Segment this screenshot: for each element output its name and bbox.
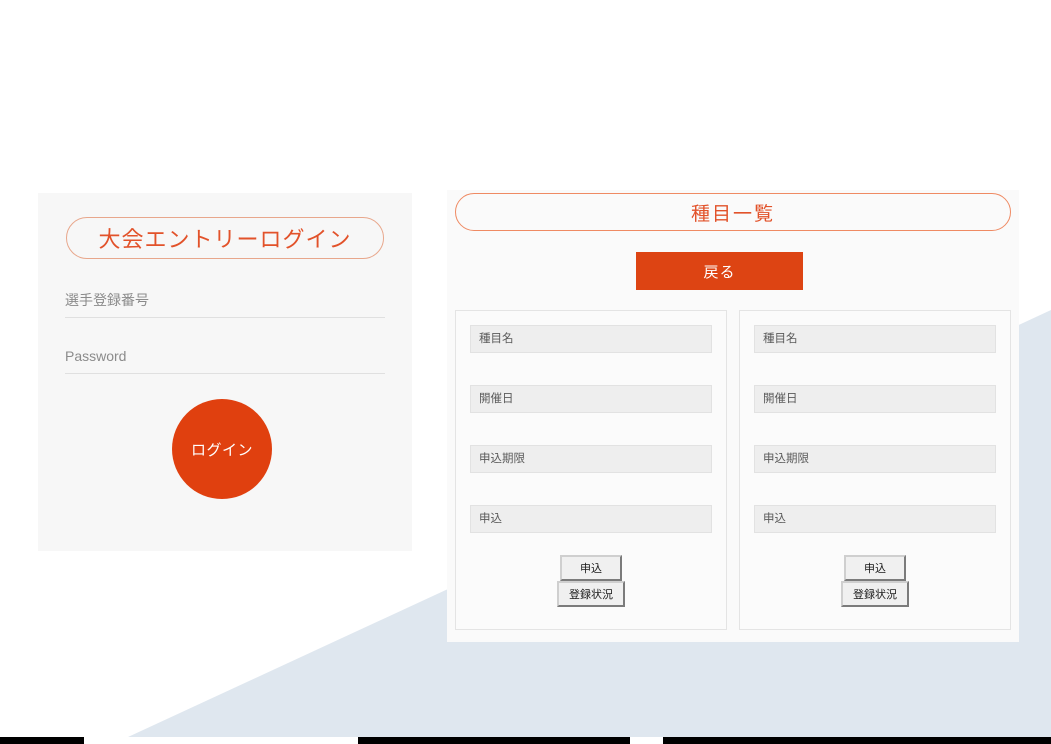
bottom-rule-segment-3 [663, 737, 1051, 744]
event-list-panel: 種目一覧 戻る 申込 登録状況 申込 登録状況 [447, 190, 1019, 642]
registration-status-button[interactable]: 登録状況 [841, 581, 909, 607]
apply-button[interactable]: 申込 [560, 555, 622, 581]
event-name-field[interactable] [470, 325, 712, 353]
password-input[interactable] [65, 339, 385, 374]
application-field[interactable] [470, 505, 712, 533]
login-submit-button[interactable]: ログイン [172, 399, 272, 499]
event-list-title: 種目一覧 [455, 193, 1011, 231]
player-registration-number-input[interactable] [65, 283, 385, 318]
login-title: 大会エントリーログイン [66, 217, 384, 259]
application-field[interactable] [754, 505, 996, 533]
event-card-actions: 申込 登録状況 [456, 555, 726, 607]
back-button[interactable]: 戻る [636, 252, 803, 290]
event-card-actions: 申込 登録状況 [740, 555, 1010, 607]
bottom-rule-segment-2 [358, 737, 630, 744]
event-name-field[interactable] [754, 325, 996, 353]
event-card-list: 申込 登録状況 申込 登録状況 [455, 310, 1011, 630]
application-deadline-field[interactable] [754, 445, 996, 473]
event-card: 申込 登録状況 [739, 310, 1011, 630]
held-date-field[interactable] [470, 385, 712, 413]
registration-status-button[interactable]: 登録状況 [557, 581, 625, 607]
bottom-rule-segment-1 [0, 737, 84, 744]
held-date-field[interactable] [754, 385, 996, 413]
apply-button[interactable]: 申込 [844, 555, 906, 581]
application-deadline-field[interactable] [470, 445, 712, 473]
event-card: 申込 登録状況 [455, 310, 727, 630]
